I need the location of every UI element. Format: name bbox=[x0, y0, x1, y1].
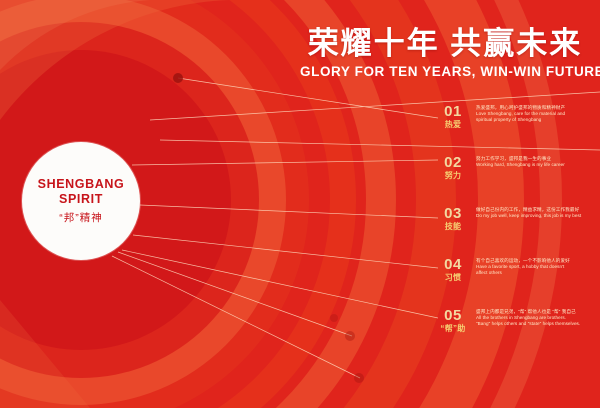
headline-block: 荣耀十年 共赢未来 GLORY FOR TEN YEARS, WIN-WIN F… bbox=[300, 26, 590, 79]
item-chinese-label: 技能 bbox=[438, 221, 468, 232]
item-body: 热爱盛邦，用心呵护盛邦的物质和精神财产 Love Shengbang, care… bbox=[476, 104, 600, 124]
item-chinese-label: 努力 bbox=[438, 170, 468, 181]
item-chinese-label: 习惯 bbox=[438, 272, 468, 283]
item-number: 05 bbox=[438, 308, 468, 323]
list-item: 01 热爱 热爱盛邦，用心呵护盛邦的物质和精神财产 Love Shengbang… bbox=[438, 104, 600, 134]
headline-english: GLORY FOR TEN YEARS, WIN-WIN FUTURE bbox=[300, 64, 590, 79]
item-chinese-label: 热爱 bbox=[438, 119, 468, 130]
item-key: 01 热爱 bbox=[438, 104, 468, 130]
item-body: 盛邦上内都是兄弟，“帮” 帮他人也是 “帮” 我自己 All the broth… bbox=[476, 308, 600, 328]
list-item: 04 习惯 有个自己喜欢的运动，一个不影响他人的爱好 Have a favori… bbox=[438, 257, 600, 287]
item-key: 04 习惯 bbox=[438, 257, 468, 283]
item-number: 02 bbox=[438, 155, 468, 170]
item-body: 努力工作学习，盛邦是我一生的事业 Working hard, Shengbang… bbox=[476, 155, 600, 168]
item-english-line2: affect others bbox=[476, 270, 600, 276]
headline-chinese: 荣耀十年 共赢未来 bbox=[300, 26, 590, 62]
item-english-line1: Do my job well, keep improving, this job… bbox=[476, 213, 600, 219]
item-body: 做好自己份内的工作，精益求精，这份工作我最好 Do my job well, k… bbox=[476, 206, 600, 219]
item-number: 04 bbox=[438, 257, 468, 272]
item-english-line2: spiritual property of Shengbang bbox=[476, 117, 600, 123]
item-body: 有个自己喜欢的运动，一个不影响他人的爱好 Have a favorite spo… bbox=[476, 257, 600, 277]
list-item: 02 努力 努力工作学习，盛邦是我一生的事业 Working hard, She… bbox=[438, 155, 600, 185]
list-item: 05 “帮”助 盛邦上内都是兄弟，“帮” 帮他人也是 “帮” 我自己 All t… bbox=[438, 308, 600, 338]
list-item: 03 技能 做好自己份内的工作，精益求精，这份工作我最好 Do my job w… bbox=[438, 206, 600, 236]
spirit-hub-circle: SHENGBANG SPIRIT “邦”精神 bbox=[22, 142, 140, 260]
hub-title-line1: SHENGBANG bbox=[38, 177, 125, 192]
item-number: 01 bbox=[438, 104, 468, 119]
item-key: 05 “帮”助 bbox=[438, 308, 468, 334]
hub-subtitle-chinese: “邦”精神 bbox=[59, 210, 103, 225]
poster-canvas: 荣耀十年 共赢未来 GLORY FOR TEN YEARS, WIN-WIN F… bbox=[0, 0, 600, 408]
hub-title-line2: SPIRIT bbox=[59, 192, 103, 207]
item-english-line2: "Bang" helps others and "state" helps th… bbox=[476, 321, 600, 327]
item-number: 03 bbox=[438, 206, 468, 221]
item-key: 02 努力 bbox=[438, 155, 468, 181]
item-key: 03 技能 bbox=[438, 206, 468, 232]
item-english-line1: Working hard, Shengbang is my life caree… bbox=[476, 162, 600, 168]
item-chinese-label: “帮”助 bbox=[438, 323, 468, 334]
spirit-item-list: 01 热爱 热爱盛邦，用心呵护盛邦的物质和精神财产 Love Shengbang… bbox=[438, 104, 600, 359]
